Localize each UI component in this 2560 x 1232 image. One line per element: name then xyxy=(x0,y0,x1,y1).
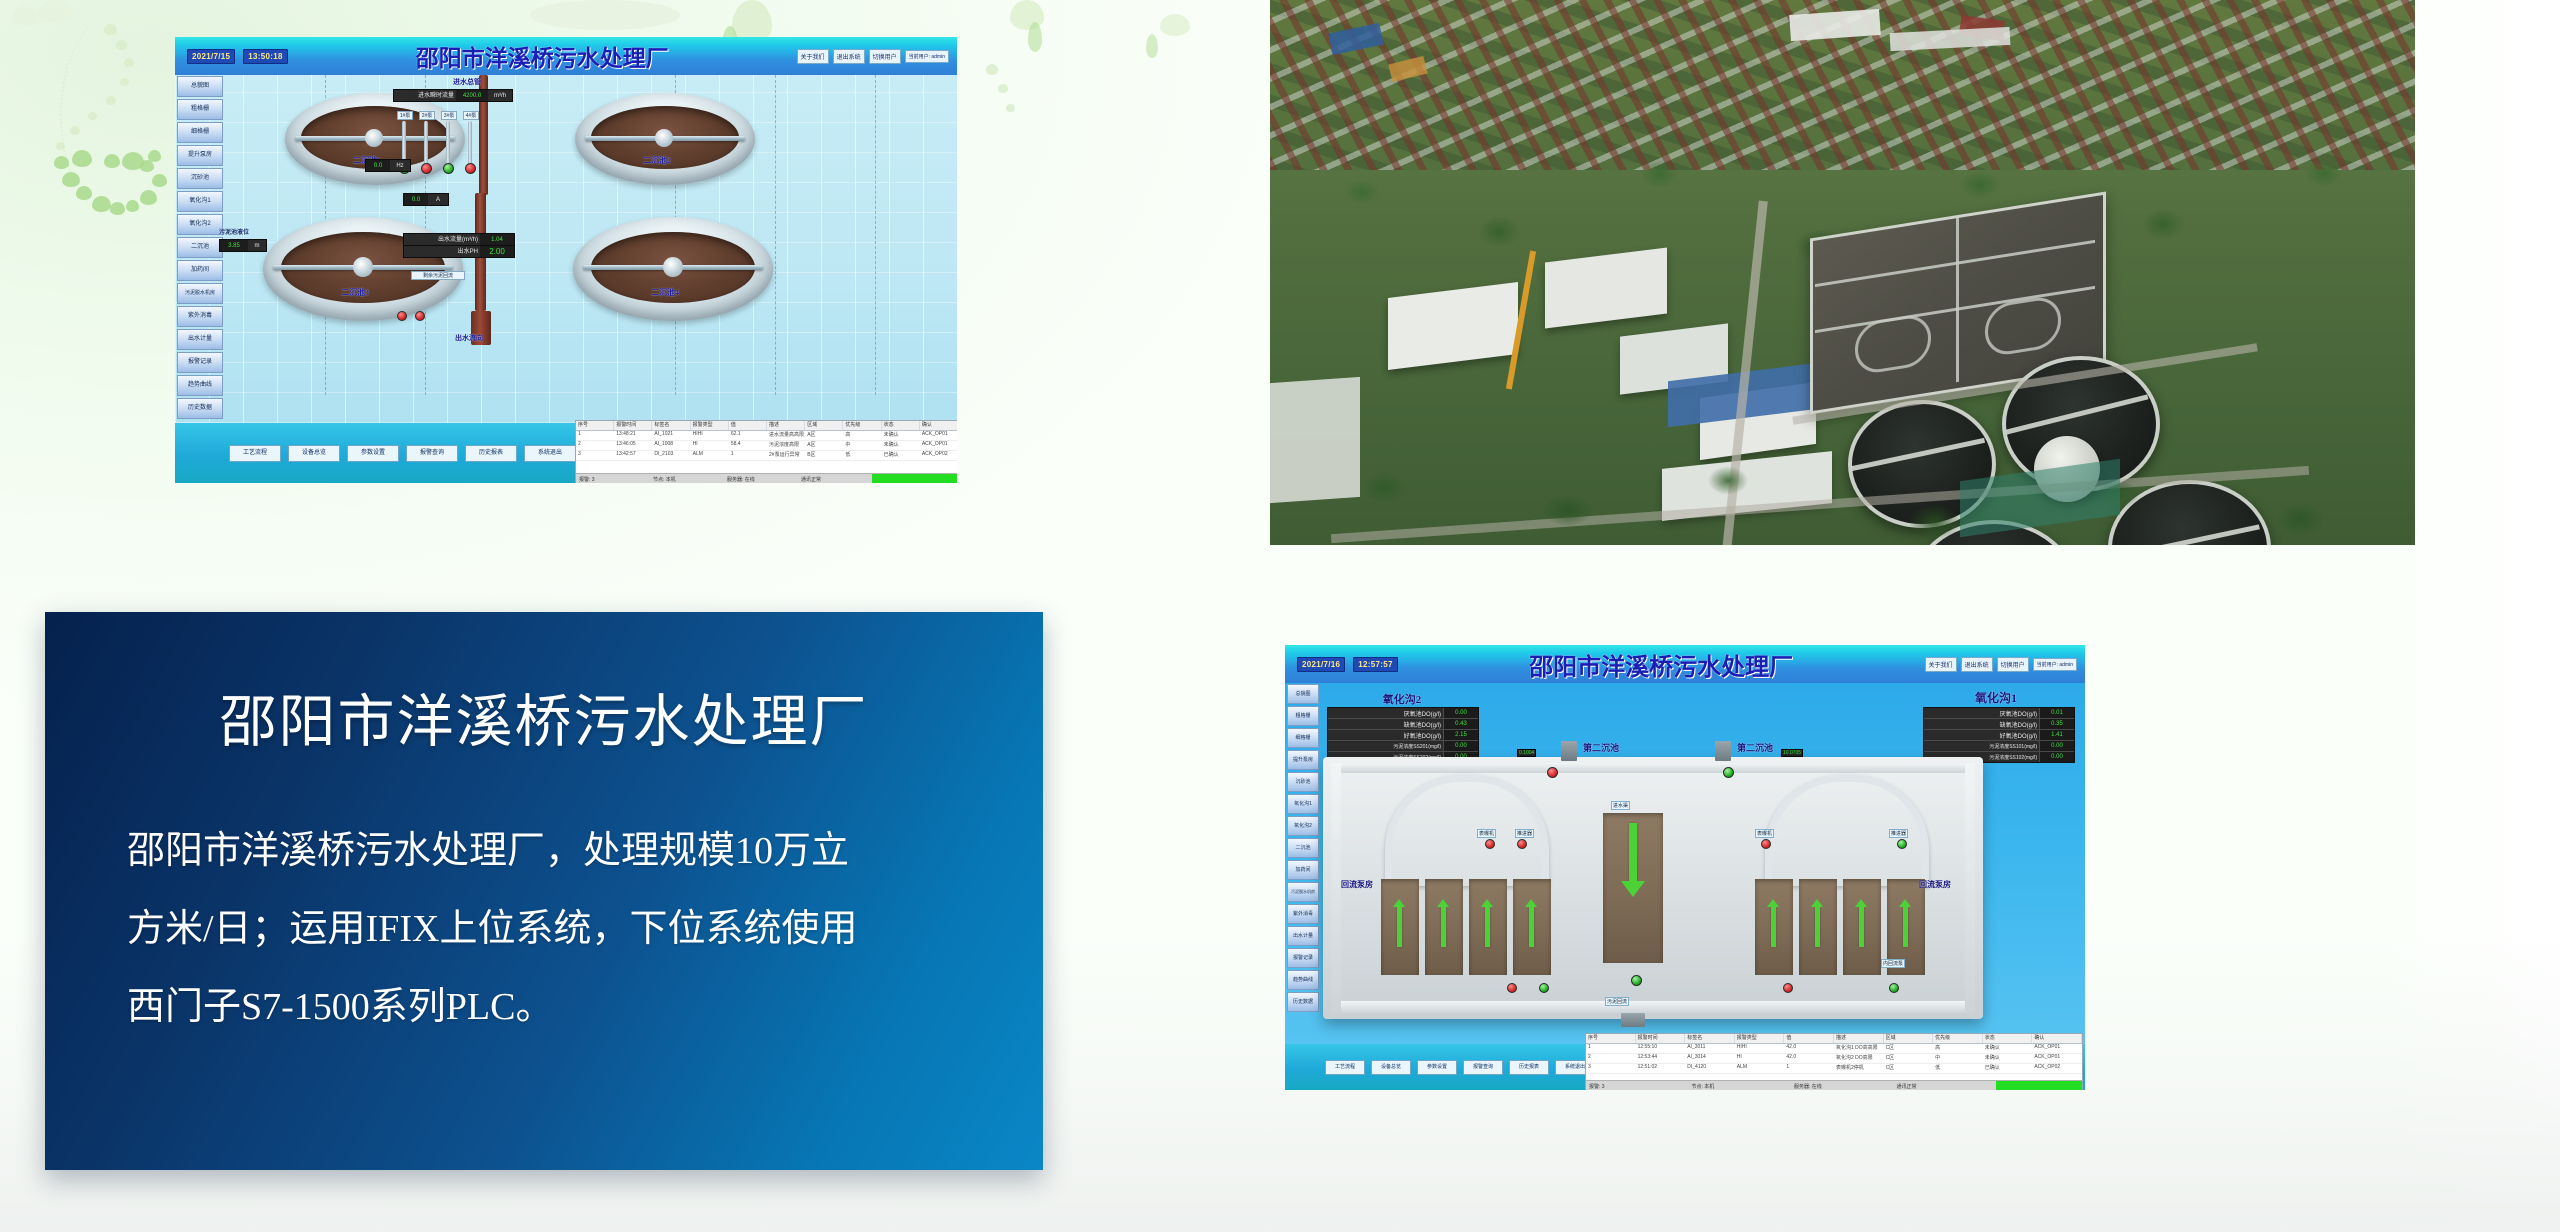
cell: ACK_OP01 xyxy=(2032,1054,2082,1063)
current-unit: A xyxy=(428,194,448,205)
alarm-col-4: 值 xyxy=(1784,1034,1834,1043)
footer-button-5[interactable]: 系统退出 xyxy=(524,445,576,462)
status-indicator-green xyxy=(1996,1081,2082,1090)
description-body: 邵阳市洋溪桥污水处理厂，处理规模10万立 方米/日；运用IFIX上位系统，下位系… xyxy=(127,812,995,1046)
scada-screenshot-oxidation-ditch[interactable]: 2021/7/16 12:57:57 邵阳市洋溪桥污水处理厂 关于我们 退出系统… xyxy=(1285,645,2085,1090)
switch-user-button[interactable]: 切换用户 xyxy=(869,49,901,64)
cell: 进水流量高高限 xyxy=(767,431,805,440)
alarm-col-8: 状态 xyxy=(882,421,920,430)
do-reading-right: 10.0705 xyxy=(1781,749,1803,757)
ditch1-flow-arrow-4 xyxy=(1903,907,1908,947)
description-line-3: 西门子S7-1500系列PLC。 xyxy=(127,968,995,1046)
status-comm: 通讯正常 xyxy=(1894,1083,1997,1090)
inflow-readout: 进水瞬时流量 4200.0 m³/h xyxy=(393,89,513,102)
ditch2-flow-arrow-4 xyxy=(1529,907,1534,947)
cell: 12:55:10 xyxy=(1636,1044,1686,1053)
effluent-ph-label: 出水PH xyxy=(404,246,480,257)
pump-cap-2: 2#泵 xyxy=(419,111,435,120)
cell: 已确认 xyxy=(1983,1064,2033,1073)
alarm-status-bar: 报警: 3 节点: 本机 服务器: 在线 通讯正常 xyxy=(1586,1080,2082,1090)
internal-recycle-pump-tag: 内回流泵 xyxy=(1881,959,1905,968)
scada-titlebar-clarifier: 2021/7/15 13:50:18 邵阳市洋溪桥污水处理厂 关于我们 退出系统… xyxy=(175,37,957,75)
table-row: 污泥浓度SS201(mg/l) 0.00 xyxy=(1328,741,1478,752)
sidebar-item-11[interactable]: 出水计量 xyxy=(177,329,223,350)
footer-button-3[interactable]: 报警查询 xyxy=(1463,1060,1503,1075)
row-value: 0.00 xyxy=(2039,752,2074,762)
alarm-col-8: 状态 xyxy=(1983,1034,2033,1043)
sludge-level-readout: 3.85 m xyxy=(219,239,267,252)
center-hub xyxy=(365,129,383,147)
status-indicator-green xyxy=(872,474,957,483)
plan-outer-wall-top xyxy=(1331,763,1975,773)
scada-body-clarifier: 总貌图 粗格栅 细格栅 提升泵房 沉砂池 氧化沟1 氧化沟2 二沉池 加药间 污… xyxy=(175,75,957,483)
ditch1-flow-arrowhead-4 xyxy=(1899,899,1911,907)
sidebar-item-4[interactable]: 沉砂池 xyxy=(177,168,223,189)
valve-a4[interactable] xyxy=(1723,767,1734,778)
gate-actuator-1 xyxy=(1561,741,1577,761)
cell: A区 xyxy=(805,431,843,440)
cell: 42.0 xyxy=(1784,1044,1834,1053)
footer-button-0[interactable]: 工艺流程 xyxy=(1325,1060,1365,1075)
cell: 表曝机2停机 xyxy=(1834,1064,1884,1073)
alarm-col-5: 描述 xyxy=(1834,1034,1884,1043)
guide-line-5 xyxy=(875,75,876,395)
table-row: 厌氧池DO(g/l) 0.00 xyxy=(1328,708,1478,719)
sidebar-item-2[interactable]: 细格栅 xyxy=(177,122,223,143)
data-panel-ditch2: 厌氧池DO(g/l) 0.00 缺氧池DO(g/l) 0.43 好氧池DO(g/… xyxy=(1327,707,1479,763)
current-value: 0.0 xyxy=(404,194,428,205)
clarifier-tank-4[interactable]: 二沉池4 xyxy=(573,217,773,321)
exit-button[interactable]: 退出系统 xyxy=(833,49,865,64)
status-alarm-count: 报警: 3 xyxy=(576,476,650,483)
cell: 低 xyxy=(843,451,881,460)
cell: 12:51:02 xyxy=(1636,1064,1686,1073)
secondary-clarifier-label-2: 第二沉池 xyxy=(1737,741,1773,754)
cell: 氧化沟2 DO高限 xyxy=(1834,1054,1884,1063)
sidebar-item-14[interactable]: 历史数据 xyxy=(1287,992,1319,1012)
plan-outer-wall-right xyxy=(1965,763,1975,1013)
cell: 未确认 xyxy=(1983,1044,2033,1053)
sidebar-item-7[interactable]: 二沉池 xyxy=(177,237,223,258)
valve-a6[interactable] xyxy=(1897,839,1907,849)
scada-plant-title: 邵阳市洋溪桥污水处理厂 xyxy=(288,39,797,73)
effluent-ph-value: 2.00 xyxy=(480,246,514,257)
effluent-flow-value: 1.04 xyxy=(480,234,514,245)
ditch2-flow-arrowhead-2 xyxy=(1437,899,1449,907)
panel-left-heading: 氧化沟2 xyxy=(1337,691,1467,707)
footer-button-2[interactable]: 参数设置 xyxy=(347,445,399,462)
table-row[interactable]: 1 12:55:10 AI_3011 HIHI 42.0 氧化沟1 DO高高限 … xyxy=(1586,1044,2082,1054)
clarifier-label-3: 二沉池3 xyxy=(341,287,369,298)
cell: 12:53:44 xyxy=(1636,1054,1686,1063)
status-server: 服务器: 在线 xyxy=(1791,1083,1894,1090)
sidebar-item-3[interactable]: 提升泵房 xyxy=(177,145,223,166)
alarm-col-7: 优先级 xyxy=(1933,1034,1983,1043)
guide-line-4 xyxy=(775,75,776,395)
row-value: 0.00 xyxy=(1443,741,1478,751)
inflow-value: 4200.0 xyxy=(456,90,488,101)
sidebar-item-0[interactable]: 总貌图 xyxy=(1287,684,1319,704)
alarm-col-3: 报警类型 xyxy=(691,421,729,430)
impeller-tag-2: 推进器 xyxy=(1889,829,1908,838)
ditch1-flow-arrow-3 xyxy=(1859,907,1864,947)
sidebar-item-12[interactable]: 报警记录 xyxy=(1287,948,1319,968)
alarm-col-9: 确认 xyxy=(920,421,957,430)
sludge-level-value: 3.85 xyxy=(220,240,248,251)
cell: AI_3011 xyxy=(1685,1044,1735,1053)
row-label: 缺氧池DO(g/l) xyxy=(1924,719,2039,729)
cell: 2 xyxy=(1586,1054,1636,1063)
pump-cap-3: 3#泵 xyxy=(441,111,457,120)
sidebar-item-10[interactable]: 紫外消毒 xyxy=(1287,904,1319,924)
current-readout: 0.0 A xyxy=(403,193,449,206)
alarm-header-row: 序号 报警时间 标签名 报警类型 值 描述 区域 优先级 状态 确认 xyxy=(576,421,957,431)
alarm-col-6: 区域 xyxy=(805,421,843,430)
sidebar-item-3[interactable]: 提升泵房 xyxy=(1287,750,1319,770)
time-stamp: 13:50:18 xyxy=(243,49,287,64)
footer-button-0[interactable]: 工艺流程 xyxy=(229,445,281,462)
secondary-clarifier-label-1: 第二沉池 xyxy=(1583,741,1619,754)
pump-riser-2 xyxy=(424,121,428,165)
cell: AI_3014 xyxy=(1685,1054,1735,1063)
ditch1-flow-arrowhead-2 xyxy=(1811,899,1823,907)
sidebar-item-5[interactable]: 氧化沟1 xyxy=(1287,794,1319,814)
valve-b3[interactable] xyxy=(1783,983,1793,993)
page-title: 邵阳市洋溪桥污水处理厂 xyxy=(45,676,1043,758)
frequency-unit: Hz xyxy=(390,160,410,171)
description-card: 邵阳市洋溪桥污水处理厂 邵阳市洋溪桥污水处理厂，处理规模10万立 方米/日；运用… xyxy=(45,612,1043,1170)
sidebar-item-5[interactable]: 氧化沟1 xyxy=(177,191,223,212)
cell: 已确认 xyxy=(882,451,920,460)
inflow-unit: m³/h xyxy=(488,90,512,101)
alarm-col-0: 序号 xyxy=(576,421,614,430)
status-node: 节点: 本机 xyxy=(1689,1083,1792,1090)
center-flow-arrowhead xyxy=(1621,881,1645,897)
bottom-valve-1[interactable] xyxy=(397,311,407,321)
valve-b4[interactable] xyxy=(1889,983,1899,993)
cell: HI xyxy=(691,441,729,450)
cell: 未确认 xyxy=(882,431,920,440)
impeller-tag-1: 推进器 xyxy=(1515,829,1534,838)
cell: ACK_OP02 xyxy=(2032,1064,2082,1073)
scada-body-ditch: 总貌图 粗格栅 细格栅 提升泵房 沉砂池 氧化沟1 氧化沟2 二沉池 加药间 污… xyxy=(1285,683,2085,1090)
cell: B区 xyxy=(805,451,843,460)
cell: 高 xyxy=(1933,1044,1983,1053)
table-row[interactable]: 2 12:53:44 AI_3014 HI 42.0 氧化沟2 DO高限 C区 … xyxy=(1586,1054,2082,1064)
scada-plant-title: 邵阳市洋溪桥污水处理厂 xyxy=(1398,647,1925,682)
row-label: 厌氧池DO(g/l) xyxy=(1328,708,1443,718)
ditch2-flow-arrow-2 xyxy=(1441,907,1446,947)
exit-button[interactable]: 退出系统 xyxy=(1961,657,1993,672)
time-stamp: 12:57:57 xyxy=(1353,657,1397,672)
scada-sidebar-ditch[interactable]: 总貌图 粗格栅 细格栅 提升泵房 沉砂池 氧化沟1 氧化沟2 二沉池 加药间 污… xyxy=(1285,683,1321,1090)
pump-cap-4: 4#泵 xyxy=(463,111,479,120)
cell: DI_4120 xyxy=(1685,1064,1735,1073)
valve-c1[interactable] xyxy=(1631,975,1642,986)
table-row: 好氧池DO(g/l) 2.15 xyxy=(1328,730,1478,741)
footer-button-3[interactable]: 报警查询 xyxy=(406,445,458,462)
cell: 高 xyxy=(843,431,881,440)
cell: C区 xyxy=(1884,1064,1934,1073)
row-label: 污泥浓度SS101(mg/l) xyxy=(1924,741,2039,751)
alarm-status-bar: 报警: 3 节点: 本机 服务器: 在线 通讯正常 xyxy=(576,473,957,483)
ditch2-flow-arrowhead-1 xyxy=(1393,899,1405,907)
cell: 13:48:21 xyxy=(614,431,652,440)
valve-b1[interactable] xyxy=(1507,983,1517,993)
sludge-level-unit: m xyxy=(248,240,266,251)
plan-outer-wall-left xyxy=(1331,763,1341,1013)
return-pump-house-label-right: 回流泵房 xyxy=(1919,879,1951,890)
center-hub xyxy=(353,257,373,277)
ditch1-flow-arrow-2 xyxy=(1815,907,1820,947)
cell: ALM xyxy=(1735,1064,1785,1073)
return-pump-house-label-left: 回流泵房 xyxy=(1341,879,1373,890)
description-line-1: 邵阳市洋溪桥污水处理厂，处理规模10万立 xyxy=(127,812,995,890)
plan-outer-wall-bottom xyxy=(1331,1001,1975,1013)
cell: 污泥浓度高限 xyxy=(767,441,805,450)
pump-riser-4 xyxy=(468,121,472,165)
lower-vegetation xyxy=(1270,430,2415,545)
sidebar-item-7[interactable]: 二沉池 xyxy=(1287,838,1319,858)
row-value: 0.00 xyxy=(2039,741,2074,751)
valve-a1[interactable] xyxy=(1547,767,1558,778)
ditch1-flow-arrowhead-3 xyxy=(1855,899,1867,907)
cell: HI xyxy=(1735,1054,1785,1063)
valve-a3[interactable] xyxy=(1517,839,1527,849)
row-label: 污泥浓度SS201(mg/l) xyxy=(1328,741,1443,751)
ditch1-flow-arrowhead-1 xyxy=(1767,899,1779,907)
table-row: 污泥浓度SS101(mg/l) 0.00 xyxy=(1924,741,2074,752)
cell: 3 xyxy=(576,451,614,460)
ditch-divider-v xyxy=(1956,218,1959,382)
row-value: 1.41 xyxy=(2039,730,2074,740)
alarm-col-2: 标签名 xyxy=(652,421,690,430)
footer-button-4[interactable]: 历史报表 xyxy=(465,445,517,462)
cell: 13:42:57 xyxy=(614,451,652,460)
sludge-level-caption: 污泥池液位 xyxy=(219,227,249,236)
cell: 氧化沟1 DO高高限 xyxy=(1834,1044,1884,1053)
alarm-col-4: 值 xyxy=(729,421,767,430)
sidebar-item-10[interactable]: 紫外消毒 xyxy=(177,306,223,327)
scada-sidebar-clarifier[interactable]: 总貌图 粗格栅 细格栅 提升泵房 沉砂池 氧化沟1 氧化沟2 二沉池 加药间 污… xyxy=(175,75,225,483)
cell: C区 xyxy=(1884,1054,1934,1063)
row-value: 0.00 xyxy=(1443,708,1478,718)
ditch2-flow-arrowhead-3 xyxy=(1481,899,1493,907)
alarm-col-7: 优先级 xyxy=(843,421,881,430)
gate-actuator-2 xyxy=(1715,741,1731,761)
frequency-value: 0.0 xyxy=(366,160,390,171)
cell: C区 xyxy=(1884,1044,1934,1053)
sidebar-item-13[interactable]: 趋势曲线 xyxy=(177,375,223,396)
sidebar-item-9[interactable]: 污泥脱水机房 xyxy=(1287,882,1319,902)
aerial-photo-plant xyxy=(1270,0,2415,545)
row-value: 2.15 xyxy=(1443,730,1478,740)
cell: ACK_OP01 xyxy=(920,441,957,450)
cell: AI_1021 xyxy=(652,431,690,440)
sludge-return-label: 剩余污泥回流 xyxy=(411,271,465,280)
inflow-label: 进水瞬时流量 xyxy=(394,90,456,101)
status-node: 节点: 本机 xyxy=(650,476,724,483)
cell: 1 xyxy=(576,431,614,440)
ditch2-flow-arrow-3 xyxy=(1485,907,1490,947)
pump-valve-3[interactable] xyxy=(443,163,454,174)
scada-screenshot-clarifier[interactable]: 2021/7/15 13:50:18 邵阳市洋溪桥污水处理厂 关于我们 退出系统… xyxy=(175,37,957,483)
cell: AI_1008 xyxy=(652,441,690,450)
table-row: 厌氧池DO(g/l) 0.01 xyxy=(1924,708,2074,719)
status-alarm-count: 报警: 3 xyxy=(1586,1083,1689,1090)
clarifier-label-2: 二沉池2 xyxy=(643,155,671,166)
cell: 58.4 xyxy=(729,441,767,450)
alarm-col-1: 报警时间 xyxy=(614,421,652,430)
cell: 42.0 xyxy=(1784,1054,1834,1063)
sidebar-item-8[interactable]: 加药间 xyxy=(1287,860,1319,880)
panel-right-heading: 氧化沟1 xyxy=(1921,689,2071,706)
row-label: 厌氧池DO(g/l) xyxy=(1924,708,2039,718)
surface-aerator-tag-1: 表曝机 xyxy=(1477,829,1496,838)
current-user-label: 当前用户: admin xyxy=(905,50,949,63)
table-row: 好氧池DO(g/l) 1.41 xyxy=(1924,730,2074,741)
bottom-gate-actuator xyxy=(1621,1013,1645,1027)
pump-cap-1: 1#泵 xyxy=(397,111,413,120)
data-panel-ditch1: 厌氧池DO(g/l) 0.01 缺氧池DO(g/l) 0.35 好氧池DO(g/… xyxy=(1923,707,2075,763)
cell: DI_2103 xyxy=(652,451,690,460)
alarm-col-3: 报警类型 xyxy=(1735,1034,1785,1043)
inflow-header-label: 进水总管 xyxy=(453,77,481,87)
cell: 1 xyxy=(1784,1064,1834,1073)
footer-button-1[interactable]: 设备总览 xyxy=(1371,1060,1411,1075)
cell: 13:46:05 xyxy=(614,441,652,450)
cell: ACK_OP01 xyxy=(920,431,957,440)
center-flow-arrow xyxy=(1629,823,1637,885)
valve-a2[interactable] xyxy=(1485,839,1495,849)
cell: A区 xyxy=(805,441,843,450)
date-stamp: 2021/7/16 xyxy=(1297,657,1345,672)
alarm-table-clarifier[interactable]: 序号 报警时间 标签名 报警类型 值 描述 区域 优先级 状态 确认 1 13:… xyxy=(575,420,957,483)
cell: 未确认 xyxy=(882,441,920,450)
sidebar-item-4[interactable]: 沉砂池 xyxy=(1287,772,1319,792)
table-row[interactable]: 1 13:48:21 AI_1021 HIHI 62.1 进水流量高高限 A区 … xyxy=(576,431,957,441)
status-server: 服务器: 在线 xyxy=(724,476,798,483)
sidebar-item-6[interactable]: 氧化沟2 xyxy=(177,214,223,235)
alarm-col-2: 标签名 xyxy=(1685,1034,1735,1043)
plant-building-2 xyxy=(1545,248,1667,329)
alarm-col-0: 序号 xyxy=(1586,1034,1636,1043)
alarm-col-9: 确认 xyxy=(2032,1034,2082,1043)
center-hub xyxy=(655,129,673,147)
row-value: 0.35 xyxy=(2039,719,2074,729)
table-row: 缺氧池DO(g/l) 0.35 xyxy=(1924,719,2074,730)
pump-valve-4[interactable] xyxy=(465,163,476,174)
table-row[interactable]: 2 13:46:05 AI_1008 HI 58.4 污泥浓度高限 A区 中 未… xyxy=(576,441,957,451)
table-row[interactable]: 3 13:42:57 DI_2103 ALM 1 2#泵运行异常 B区 低 已确… xyxy=(576,451,957,461)
pump-valve-2[interactable] xyxy=(421,163,432,174)
alarm-col-1: 报警时间 xyxy=(1636,1034,1686,1043)
cell: HIHI xyxy=(691,431,729,440)
footer-button-1[interactable]: 设备总览 xyxy=(288,445,340,462)
sidebar-item-2[interactable]: 细格栅 xyxy=(1287,728,1319,748)
pump-riser-3 xyxy=(446,121,450,165)
surface-aerator-tag-2: 表曝机 xyxy=(1755,829,1774,838)
alarm-col-5: 描述 xyxy=(767,421,805,430)
row-value: 0.01 xyxy=(2039,708,2074,718)
frequency-readout: 0.0 Hz xyxy=(365,159,411,172)
sidebar-item-9[interactable]: 污泥脱水机房 xyxy=(177,283,223,304)
inlet-channel-label: 进水渠 xyxy=(1611,801,1630,810)
sidebar-item-14[interactable]: 历史数据 xyxy=(177,398,223,419)
scada-titlebar-ditch: 2021/7/16 12:57:57 邵阳市洋溪桥污水处理厂 关于我们 退出系统… xyxy=(1285,645,2085,683)
description-line-2: 方米/日；运用IFIX上位系统，下位系统使用 xyxy=(127,890,995,968)
ditch2-flow-arrowhead-4 xyxy=(1525,899,1537,907)
table-row[interactable]: 3 12:51:02 DI_4120 ALM 1 表曝机2停机 C区 低 已确认… xyxy=(1586,1064,2082,1074)
table-row: 缺氧池DO(g/l) 0.43 xyxy=(1328,719,1478,730)
alarm-col-6: 区域 xyxy=(1884,1034,1934,1043)
cell: 1 xyxy=(729,451,767,460)
valve-a5[interactable] xyxy=(1761,839,1771,849)
bottom-valve-2[interactable] xyxy=(415,311,425,321)
cell: 62.1 xyxy=(729,431,767,440)
cell: ACK_OP02 xyxy=(920,451,957,460)
row-label: 好氧池DO(g/l) xyxy=(1328,730,1443,740)
current-user-label: 当前用户: admin xyxy=(2033,658,2077,671)
effluent-flow-label: 出水流量(m³/h) xyxy=(404,234,480,245)
sidebar-item-1[interactable]: 粗格栅 xyxy=(177,99,223,120)
sidebar-item-1[interactable]: 粗格栅 xyxy=(1287,706,1319,726)
alarm-header-row: 序号 报警时间 标签名 报警类型 值 描述 区域 优先级 状态 确认 xyxy=(1586,1034,2082,1044)
effluent-ph-readout: 出水PH 2.00 xyxy=(403,245,515,258)
cell: ACK_OP01 xyxy=(2032,1044,2082,1053)
row-label: 缺氧池DO(g/l) xyxy=(1328,719,1443,729)
ditch1-flow-arrow-1 xyxy=(1771,907,1776,947)
sidebar-item-6[interactable]: 氧化沟2 xyxy=(1287,816,1319,836)
cell: 3 xyxy=(1586,1064,1636,1073)
do-reading-left: 0.1004 xyxy=(1517,749,1536,757)
about-button[interactable]: 关于我们 xyxy=(1925,657,1957,672)
center-hub xyxy=(663,257,683,277)
cell: 中 xyxy=(1933,1054,1983,1063)
row-label: 好氧池DO(g/l) xyxy=(1924,730,2039,740)
sidebar-item-13[interactable]: 趋势曲线 xyxy=(1287,970,1319,990)
footer-button-4[interactable]: 历史报表 xyxy=(1509,1060,1549,1075)
sidebar-item-11[interactable]: 出水计量 xyxy=(1287,926,1319,946)
outlet-flow-label: 出水流向 xyxy=(455,333,483,343)
footer-button-2[interactable]: 参数设置 xyxy=(1417,1060,1457,1075)
row-value: 0.43 xyxy=(1443,719,1478,729)
cell: 1 xyxy=(1586,1044,1636,1053)
cell: 未确认 xyxy=(1983,1054,2033,1063)
clarifier-label-4: 二沉池4 xyxy=(651,287,679,298)
sidebar-item-0[interactable]: 总貌图 xyxy=(177,76,223,97)
ditch2-flow-arrow-1 xyxy=(1397,907,1402,947)
cell: 2 xyxy=(576,441,614,450)
cell: ALM xyxy=(691,451,729,460)
valve-b2[interactable] xyxy=(1539,983,1549,993)
cell: 中 xyxy=(843,441,881,450)
alarm-table-ditch[interactable]: 序号 报警时间 标签名 报警类型 值 描述 区域 优先级 状态 确认 1 12:… xyxy=(1585,1033,2083,1090)
sidebar-item-12[interactable]: 报警记录 xyxy=(177,352,223,373)
status-comm: 通讯正常 xyxy=(798,476,872,483)
sludge-recycle-tag: 污泥回流 xyxy=(1605,997,1629,1006)
sidebar-item-8[interactable]: 加药间 xyxy=(177,260,223,281)
cell: 低 xyxy=(1933,1064,1983,1073)
cell: HIHI xyxy=(1735,1044,1785,1053)
date-stamp: 2021/7/15 xyxy=(187,49,235,64)
plant-building-1 xyxy=(1388,282,1518,370)
clarifier-tank-2[interactable]: 二沉池2 xyxy=(575,93,755,185)
about-button[interactable]: 关于我们 xyxy=(797,49,829,64)
switch-user-button[interactable]: 切换用户 xyxy=(1997,657,2029,672)
cell: 2#泵运行异常 xyxy=(767,451,805,460)
